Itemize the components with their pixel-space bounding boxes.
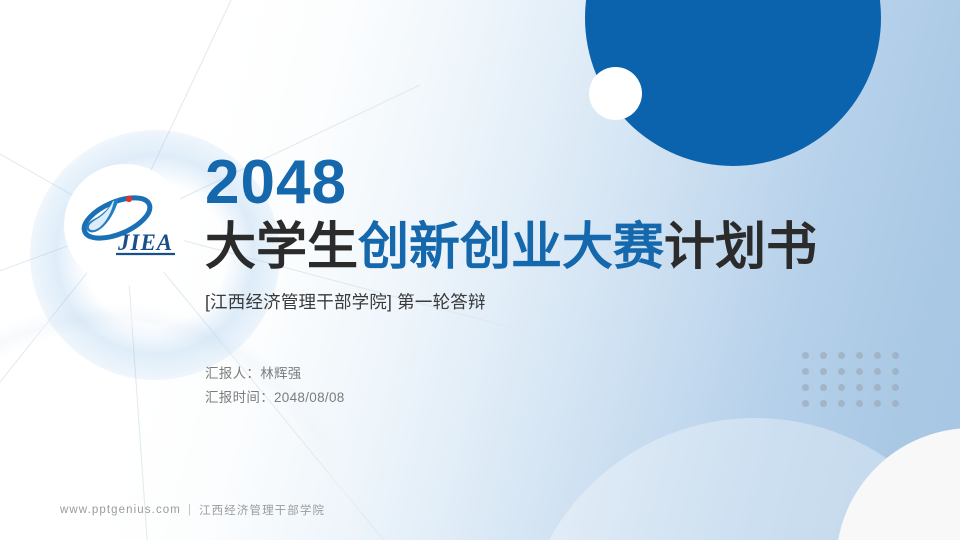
- cover-text-content: 2048 大学生创新创业大赛计划书 [江西经济管理干部学院] 第一轮答辩 汇报人…: [205, 152, 925, 409]
- jiea-logo-mark: JIEA: [73, 192, 177, 258]
- footer-institution: 江西经济管理干部学院: [199, 502, 325, 518]
- pale-circle-bottom-right: [836, 428, 960, 540]
- blue-circle-top-right: [585, 0, 881, 166]
- subtitle-text: [江西经济管理干部学院] 第一轮答辩: [205, 289, 925, 314]
- date-line: 汇报时间：2048/08/08: [205, 386, 925, 410]
- title-segment-competition: 创新创业大赛: [358, 218, 664, 275]
- faint-circle-lower-middle: [520, 418, 960, 540]
- footer-website: www.pptgenius.com: [60, 504, 181, 516]
- footer-separator: |: [188, 504, 192, 516]
- logo-wordmark-text: JIEA: [117, 230, 173, 255]
- presenter-line: 汇报人：林辉强: [205, 362, 925, 386]
- year-heading: 2048: [205, 152, 925, 214]
- institution-logo: JIEA: [64, 164, 186, 286]
- white-accent-circle: [589, 67, 642, 120]
- title-segment-document: 计划书: [664, 218, 817, 275]
- logo-red-dot: [126, 196, 132, 202]
- presentation-cover-slide: JIEA 2048 大学生创新创业大赛计划书 [江西经济管理干部学院] 第一轮答…: [0, 0, 960, 540]
- presentation-meta: 汇报人：林辉强 汇报时间：2048/08/08: [205, 362, 925, 409]
- page-title: 大学生创新创业大赛计划书: [205, 218, 925, 275]
- title-segment-audience: 大学生: [205, 218, 358, 275]
- footer-credit: www.pptgenius.com | 江西经济管理干部学院: [60, 502, 325, 518]
